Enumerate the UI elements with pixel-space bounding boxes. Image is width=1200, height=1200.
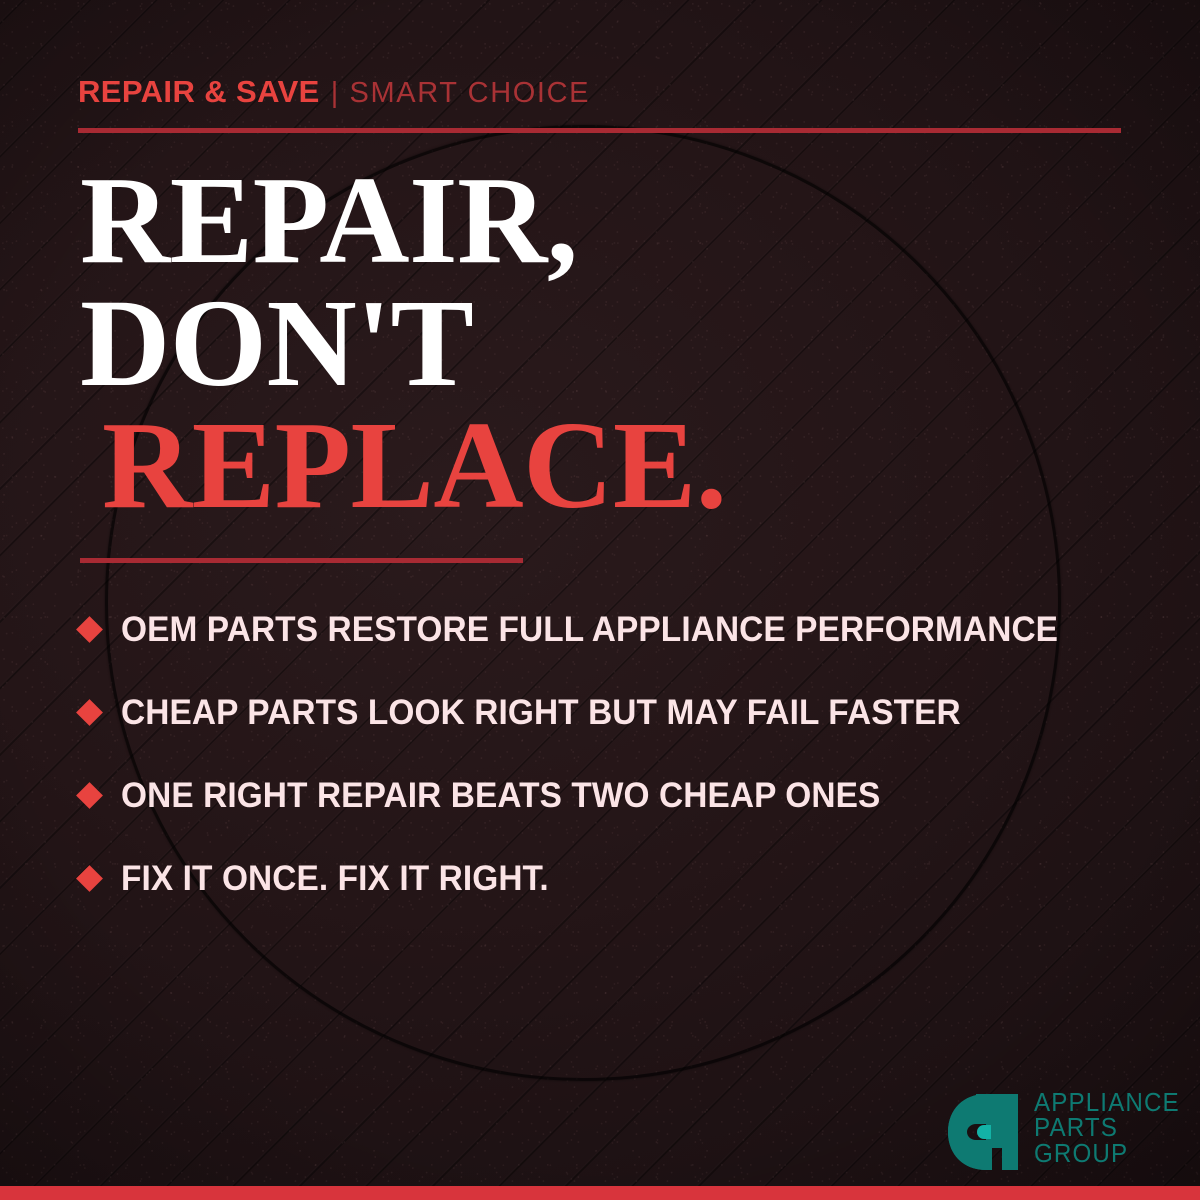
kicker-primary-label: REPAIR & SAVE xyxy=(78,74,320,110)
headline-line-3: REPLACE. xyxy=(80,405,727,528)
page-title: REPAIR, DON'T REPLACE. xyxy=(80,160,727,528)
list-item: ONE RIGHT REPAIR BEATS TWO CHEAP ONES xyxy=(80,754,1150,837)
diamond-bullet-icon xyxy=(76,699,103,726)
benefits-list: OEM PARTS RESTORE FULL APPLIANCE PERFORM… xyxy=(80,588,1150,920)
headline-line-2: DON'T xyxy=(80,283,727,406)
brand-wordmark-line-3: GROUP xyxy=(1034,1141,1180,1166)
brand-wordmark: APPLIANCE PARTS GROUP xyxy=(1034,1090,1180,1166)
brand-logo: APPLIANCE PARTS GROUP xyxy=(946,1092,1191,1172)
diamond-bullet-icon xyxy=(76,616,103,643)
list-item: FIX IT ONCE. FIX IT RIGHT. xyxy=(80,837,1150,920)
promo-poster: REPAIR & SAVE | SMART CHOICE REPAIR, DON… xyxy=(0,0,1200,1200)
list-item-label: OEM PARTS RESTORE FULL APPLIANCE PERFORM… xyxy=(121,610,1058,650)
list-item: CHEAP PARTS LOOK RIGHT BUT MAY FAIL FAST… xyxy=(80,671,1150,754)
diamond-bullet-icon xyxy=(76,865,103,892)
headline-divider-rule xyxy=(80,558,523,563)
diamond-bullet-icon xyxy=(76,782,103,809)
header-kicker: REPAIR & SAVE | SMART CHOICE xyxy=(78,74,590,110)
header-divider-rule xyxy=(78,128,1121,133)
list-item-label: FIX IT ONCE. FIX IT RIGHT. xyxy=(121,859,549,899)
list-item-label: CHEAP PARTS LOOK RIGHT BUT MAY FAIL FAST… xyxy=(121,693,961,733)
letter-g-monogram-icon xyxy=(946,1092,1022,1172)
headline-line-1: REPAIR, xyxy=(80,160,727,283)
kicker-secondary-label: | SMART CHOICE xyxy=(331,77,590,110)
footer-accent-bar xyxy=(0,1186,1200,1200)
list-item-label: ONE RIGHT REPAIR BEATS TWO CHEAP ONES xyxy=(121,776,880,816)
list-item: OEM PARTS RESTORE FULL APPLIANCE PERFORM… xyxy=(80,588,1150,671)
